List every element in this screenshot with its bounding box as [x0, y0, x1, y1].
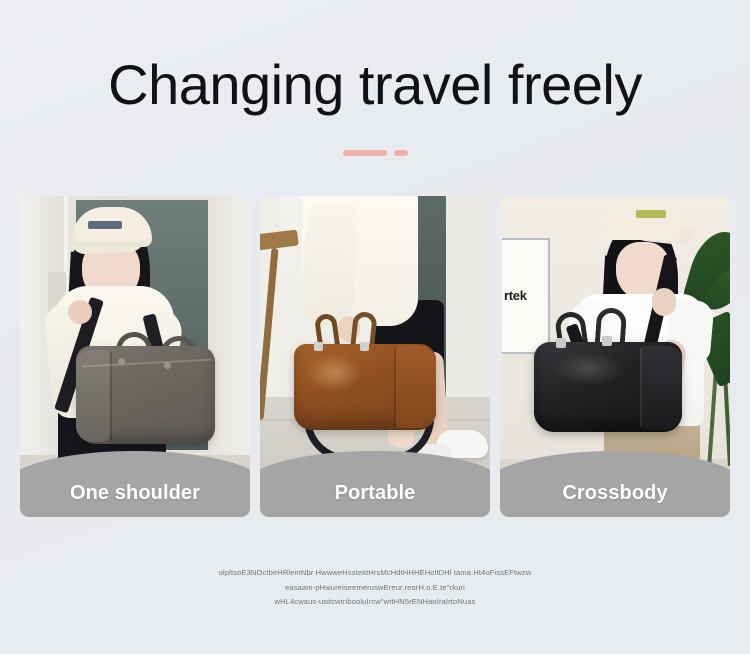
footer-line-1: olpltsoE3NOctbeHRlemNbr HwwweHsstektHrsM… — [0, 566, 750, 581]
bag-clip-left — [556, 338, 566, 348]
caption-label: One shoulder — [70, 482, 200, 505]
sleeve — [300, 200, 361, 327]
product-panel-crossbody[interactable]: rtek — [500, 196, 730, 517]
caption-label: Crossbody — [562, 482, 667, 505]
divider-dash-short — [394, 150, 408, 156]
panel-caption: One shoulder — [20, 451, 250, 517]
footer-line-3: wHL4cwaus-usitcwtribooluIrcw"wttHN5rENHa… — [0, 595, 750, 610]
wall-right — [446, 196, 490, 406]
panel-caption: Portable — [260, 451, 490, 517]
bag-seam — [640, 348, 642, 428]
bag-rivet — [164, 362, 171, 369]
bag-end-cap — [394, 346, 436, 428]
bag-seam — [394, 348, 396, 426]
caption-label: Portable — [335, 482, 416, 505]
bag-end-cap — [640, 346, 682, 430]
bag-clip-right — [360, 342, 369, 351]
hand — [68, 300, 92, 324]
cap-logo — [636, 210, 666, 218]
cap-logo — [88, 221, 122, 229]
divider-dash-long — [343, 150, 387, 156]
title-divider — [0, 150, 750, 156]
footer-line-2: easaam-pHwureiseemeruswEreur.reorH.o.E.t… — [0, 581, 750, 596]
baseball-cap — [604, 202, 682, 240]
panel-row: One shoulder — [20, 196, 730, 517]
bag-highlight — [306, 354, 362, 392]
bag-clip-left — [314, 342, 323, 351]
footer-text: olpltsoE3NOctbeHRlemNbr HwwweHsstektHrsM… — [0, 566, 750, 610]
hand — [652, 288, 676, 316]
promo-banner: Changing travel freely — [0, 0, 750, 654]
panel-caption: Crossbody — [500, 451, 730, 517]
page-title: Changing travel freely — [0, 56, 750, 115]
product-panel-one-shoulder[interactable]: One shoulder — [20, 196, 250, 517]
bag-rivet — [118, 358, 125, 365]
product-panel-portable[interactable]: Portable — [260, 196, 490, 517]
wall-sign-text: rtek — [504, 288, 527, 303]
bag-clip-right — [602, 336, 612, 346]
bag-highlight — [554, 352, 624, 386]
